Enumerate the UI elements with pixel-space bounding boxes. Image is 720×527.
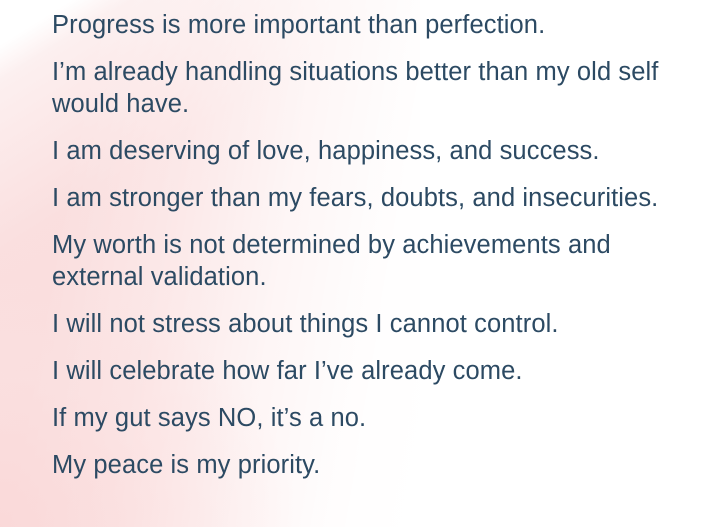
affirmation-line-6: I will not stress about things I cannot … [52, 308, 677, 340]
affirmation-line-2: I’m already handling situations better t… [52, 56, 677, 120]
affirmation-card: Progress is more important than perfecti… [0, 0, 720, 527]
affirmation-line-5: My worth is not determined by achievemen… [52, 229, 677, 293]
affirmation-line-1: Progress is more important than perfecti… [52, 9, 677, 41]
affirmation-line-9: My peace is my priority. [52, 449, 677, 481]
affirmation-list: Progress is more important than perfecti… [0, 0, 720, 481]
affirmation-line-7: I will celebrate how far I’ve already co… [52, 355, 677, 387]
affirmation-line-8: If my gut says NO, it’s a no. [52, 402, 677, 434]
affirmation-line-4: I am stronger than my fears, doubts, and… [52, 182, 677, 214]
affirmation-line-3: I am deserving of love, happiness, and s… [52, 135, 677, 167]
